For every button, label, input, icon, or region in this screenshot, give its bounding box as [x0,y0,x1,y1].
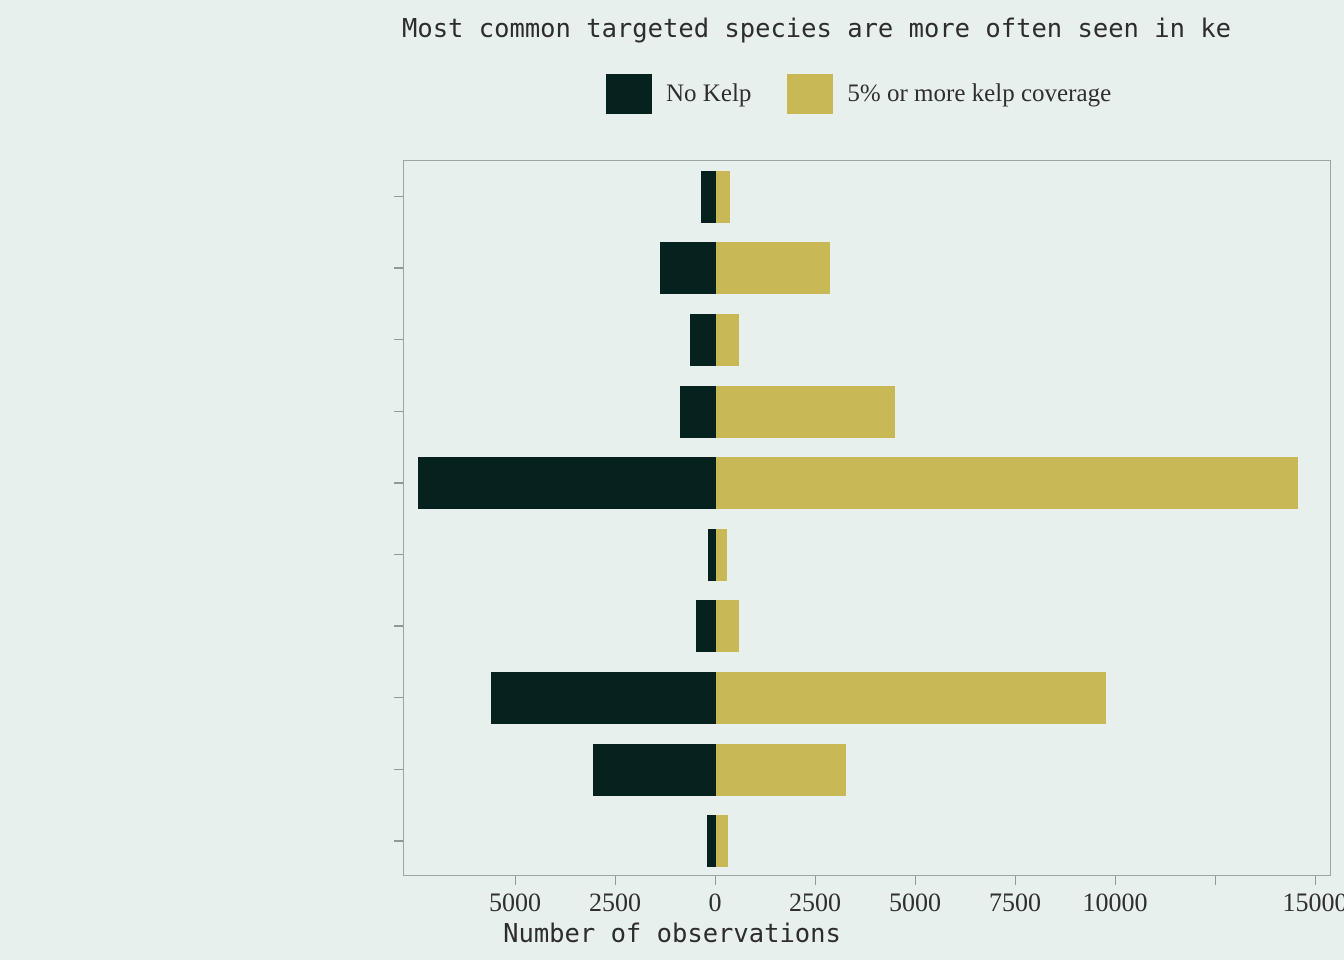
bar-segment-kelp-coverage[interactable] [716,457,1298,509]
x-tick-mark [915,876,916,885]
x-tick-label: 5000 [489,888,541,918]
bar-row [404,734,1330,806]
x-tick-mark [515,876,516,885]
x-tick-label: 2500 [589,888,641,918]
x-tick-label: 15000 [1283,888,1344,918]
legend-swatch-kelp-coverage [787,74,833,114]
bar-segment-kelp-coverage[interactable] [716,386,895,438]
y-tick-mark [394,769,403,770]
bar-segment-no-kelp[interactable] [707,815,716,867]
legend-item-no-kelp[interactable]: No Kelp [606,74,751,114]
x-tick-label: 0 [709,888,722,918]
legend-label-no-kelp: No Kelp [666,80,751,108]
chart-legend: No Kelp 5% or more kelp coverage [606,74,1111,114]
bar-segment-kelp-coverage[interactable] [716,672,1106,724]
legend-swatch-no-kelp [606,74,652,114]
bar-segment-no-kelp[interactable] [696,600,716,652]
plot-area [403,160,1331,876]
bar-segment-no-kelp[interactable] [660,242,716,294]
bar-row [404,519,1330,591]
y-tick-mark [394,697,403,698]
x-tick-label: 7500 [989,888,1041,918]
y-tick-mark [394,482,403,483]
bar-row [404,447,1330,519]
bar-segment-no-kelp[interactable] [701,171,716,223]
y-tick-mark [394,196,403,197]
bar-segment-kelp-coverage[interactable] [716,242,830,294]
x-tick-mark [1115,876,1116,885]
x-tick-mark [715,876,716,885]
legend-label-kelp-coverage: 5% or more kelp coverage [847,80,1111,108]
x-tick-label: 10000 [1083,888,1148,918]
bar-segment-kelp-coverage[interactable] [716,815,728,867]
bar-segment-no-kelp[interactable] [680,386,716,438]
bar-segment-kelp-coverage[interactable] [716,744,846,796]
bar-row [404,376,1330,448]
y-tick-mark [394,411,403,412]
x-tick-mark [615,876,616,885]
bar-row [404,591,1330,663]
bar-segment-kelp-coverage[interactable] [716,529,727,581]
bar-segment-kelp-coverage[interactable] [716,600,739,652]
bar-row [404,233,1330,305]
y-tick-mark [394,267,403,268]
y-tick-mark [394,625,403,626]
y-tick-mark [394,554,403,555]
bar-segment-kelp-coverage[interactable] [716,314,739,366]
bar-segment-kelp-coverage[interactable] [716,171,730,223]
bar-row [404,161,1330,233]
x-tick-mark [1215,876,1216,885]
x-tick-label: 2500 [789,888,841,918]
bar-segment-no-kelp[interactable] [491,672,716,724]
chart-title: Most common targeted species are more of… [402,12,1344,46]
bar-row [404,662,1330,734]
x-tick-mark [815,876,816,885]
bar-segment-no-kelp[interactable] [418,457,716,509]
x-axis-label: Number of observations [0,919,1344,949]
legend-item-kelp-coverage[interactable]: 5% or more kelp coverage [787,74,1111,114]
y-tick-mark [394,840,403,841]
x-tick-mark [1315,876,1316,885]
bar-segment-no-kelp[interactable] [690,314,716,366]
bar-segment-no-kelp[interactable] [593,744,716,796]
chart-figure: Most common targeted species are more of… [0,0,1344,960]
bar-row [404,805,1330,877]
x-tick-label: 5000 [889,888,941,918]
y-tick-mark [394,339,403,340]
bar-segment-no-kelp[interactable] [708,529,716,581]
bar-row [404,304,1330,376]
x-tick-mark [1015,876,1016,885]
